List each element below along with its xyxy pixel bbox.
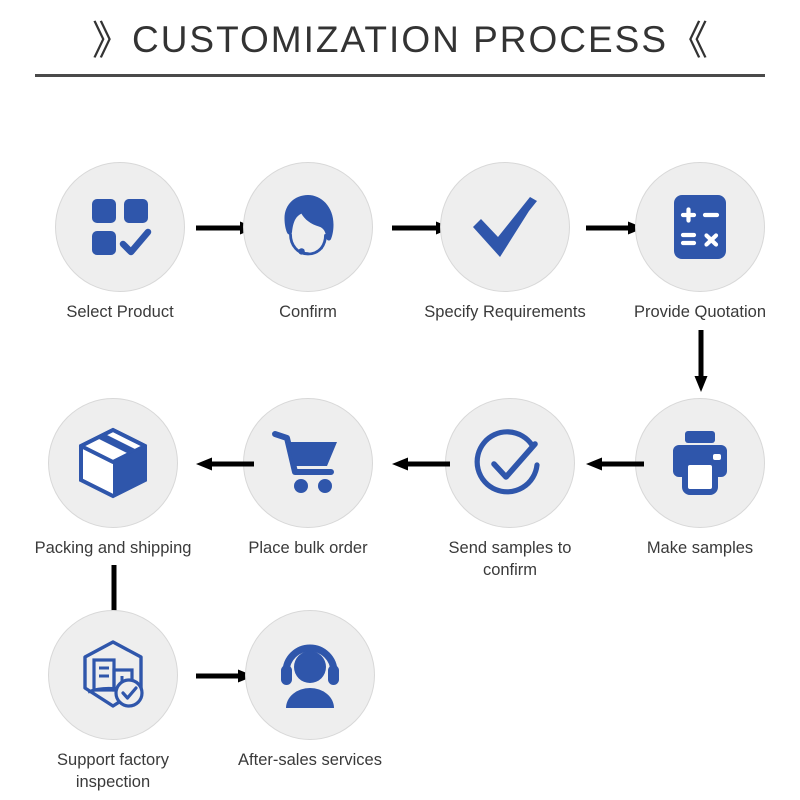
step-place-bulk-order[interactable]: Place bulk order: [218, 398, 398, 560]
step-label: Send samples to confirm: [420, 538, 600, 582]
page-title: 》CUSTOMIZATION PROCESS《: [0, 8, 800, 66]
step-label: Packing and shipping: [23, 538, 203, 560]
step-icon-circle: [635, 398, 765, 528]
step-label: Confirm: [218, 302, 398, 324]
step-send-samples-to-confirm[interactable]: Send samples to confirm: [420, 398, 600, 582]
step-after-sales-services[interactable]: After-sales services: [220, 610, 400, 772]
step-icon-circle: [48, 398, 178, 528]
step-icon-circle: [55, 162, 185, 292]
step-support-factory-inspection[interactable]: Support factory inspection: [23, 610, 203, 794]
step-icon-circle: [243, 162, 373, 292]
shopping-cart-icon: [271, 428, 345, 498]
arrow-quotation-to-samples: [694, 330, 706, 392]
step-specify-requirements[interactable]: Specify Requirements: [415, 162, 595, 324]
circle-check-icon: [472, 425, 548, 501]
step-label: Specify Requirements: [415, 302, 595, 324]
checkmark-icon: [467, 189, 543, 265]
step-label: After-sales services: [220, 750, 400, 772]
step-icon-circle: [445, 398, 575, 528]
headset-agent-icon: [271, 190, 345, 264]
right-chevron-icon: 《: [668, 19, 708, 63]
printer-icon: [663, 428, 737, 498]
calculator-icon: [667, 191, 733, 263]
step-icon-circle: [635, 162, 765, 292]
step-icon-circle: [440, 162, 570, 292]
left-chevron-icon: 》: [92, 19, 132, 63]
title-divider: [35, 74, 765, 77]
step-label: Support factory inspection: [23, 750, 203, 794]
step-icon-circle: [243, 398, 373, 528]
arrow-send-to-bulkorder: [392, 457, 450, 469]
customization-process-infographic: 》CUSTOMIZATION PROCESS《 Select Product: [0, 0, 800, 800]
package-box-icon: [75, 426, 151, 500]
step-icon-circle: [245, 610, 375, 740]
support-person-icon: [273, 640, 347, 710]
step-label: Select Product: [30, 302, 210, 324]
step-provide-quotation[interactable]: Provide Quotation: [610, 162, 790, 324]
title-text: CUSTOMIZATION PROCESS: [132, 19, 668, 60]
step-label: Place bulk order: [218, 538, 398, 560]
step-select-product[interactable]: Select Product: [30, 162, 210, 324]
step-icon-circle: [48, 610, 178, 740]
arrow-bulkorder-to-packing: [196, 457, 254, 469]
grid-check-icon: [86, 193, 154, 261]
step-label: Provide Quotation: [610, 302, 790, 324]
step-label: Make samples: [610, 538, 790, 560]
step-packing-and-shipping[interactable]: Packing and shipping: [23, 398, 203, 560]
step-confirm[interactable]: Confirm: [218, 162, 398, 324]
factory-shield-check-icon: [76, 638, 150, 712]
step-make-samples[interactable]: Make samples: [610, 398, 790, 560]
